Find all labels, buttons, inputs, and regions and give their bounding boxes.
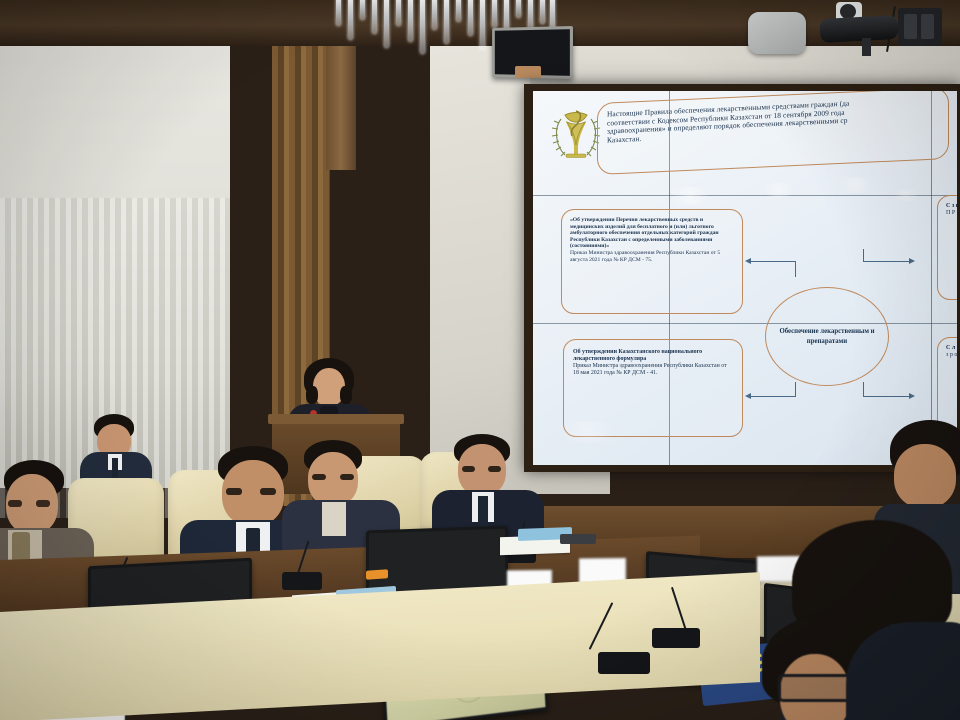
slide-box-left-bottom-plain: Приказ Министра здравоохранения Республи… xyxy=(573,363,733,377)
microphone-base[interactable] xyxy=(282,572,322,590)
microphone-base[interactable] xyxy=(598,652,650,674)
slide-box-left-bottom: Об утверждении Казахстанского национальн… xyxy=(563,339,743,437)
caduceus-logo-icon xyxy=(549,105,603,167)
slide-box-left-top-plain: Приказ Министра здравоохранения Республи… xyxy=(570,250,734,263)
microphone-base[interactable] xyxy=(652,628,700,648)
video-wall-frame: Настоящие Правила обеспечения лекарствен… xyxy=(524,84,960,472)
slide-box-right-top-bold: С з в xyxy=(946,203,957,210)
slide-box-left-top-bold: «Об утверждении Перечня лекарственных ср… xyxy=(570,217,734,250)
slide-box-left-top: «Об утверждении Перечня лекарственных ср… xyxy=(561,209,743,314)
wifi-access-point-icon xyxy=(748,12,806,54)
eyeglasses-icon xyxy=(778,674,856,702)
slide-box-right-top-plain: П Р № xyxy=(946,210,957,217)
tv-bracket xyxy=(515,66,541,78)
slide-box-right-top: С з в П Р № xyxy=(937,195,957,300)
orange-marker xyxy=(366,569,388,580)
slide-header-box: Настоящие Правила обеспечения лекарствен… xyxy=(597,91,949,175)
slide-box-left-bottom-bold: Об утверждении Казахстанского национальн… xyxy=(573,349,733,363)
presentation-slide: Настоящие Правила обеспечения лекарствен… xyxy=(533,91,957,465)
slide-center-node: Обеспечение лекарственным и препаратами xyxy=(765,287,889,386)
gold-curtain xyxy=(206,4,278,504)
podium-top-surface xyxy=(268,414,404,424)
meeting-room-photo: Настоящие Правила обеспечения лекарствен… xyxy=(0,0,960,720)
device-remote xyxy=(560,534,596,544)
participant-p6 xyxy=(762,612,960,720)
projector-icon xyxy=(819,15,898,43)
projector-mount xyxy=(862,38,871,56)
ptz-camera-icon xyxy=(898,8,942,46)
slide-box-right-bottom-plain: з р о «( ср xyxy=(946,352,957,359)
